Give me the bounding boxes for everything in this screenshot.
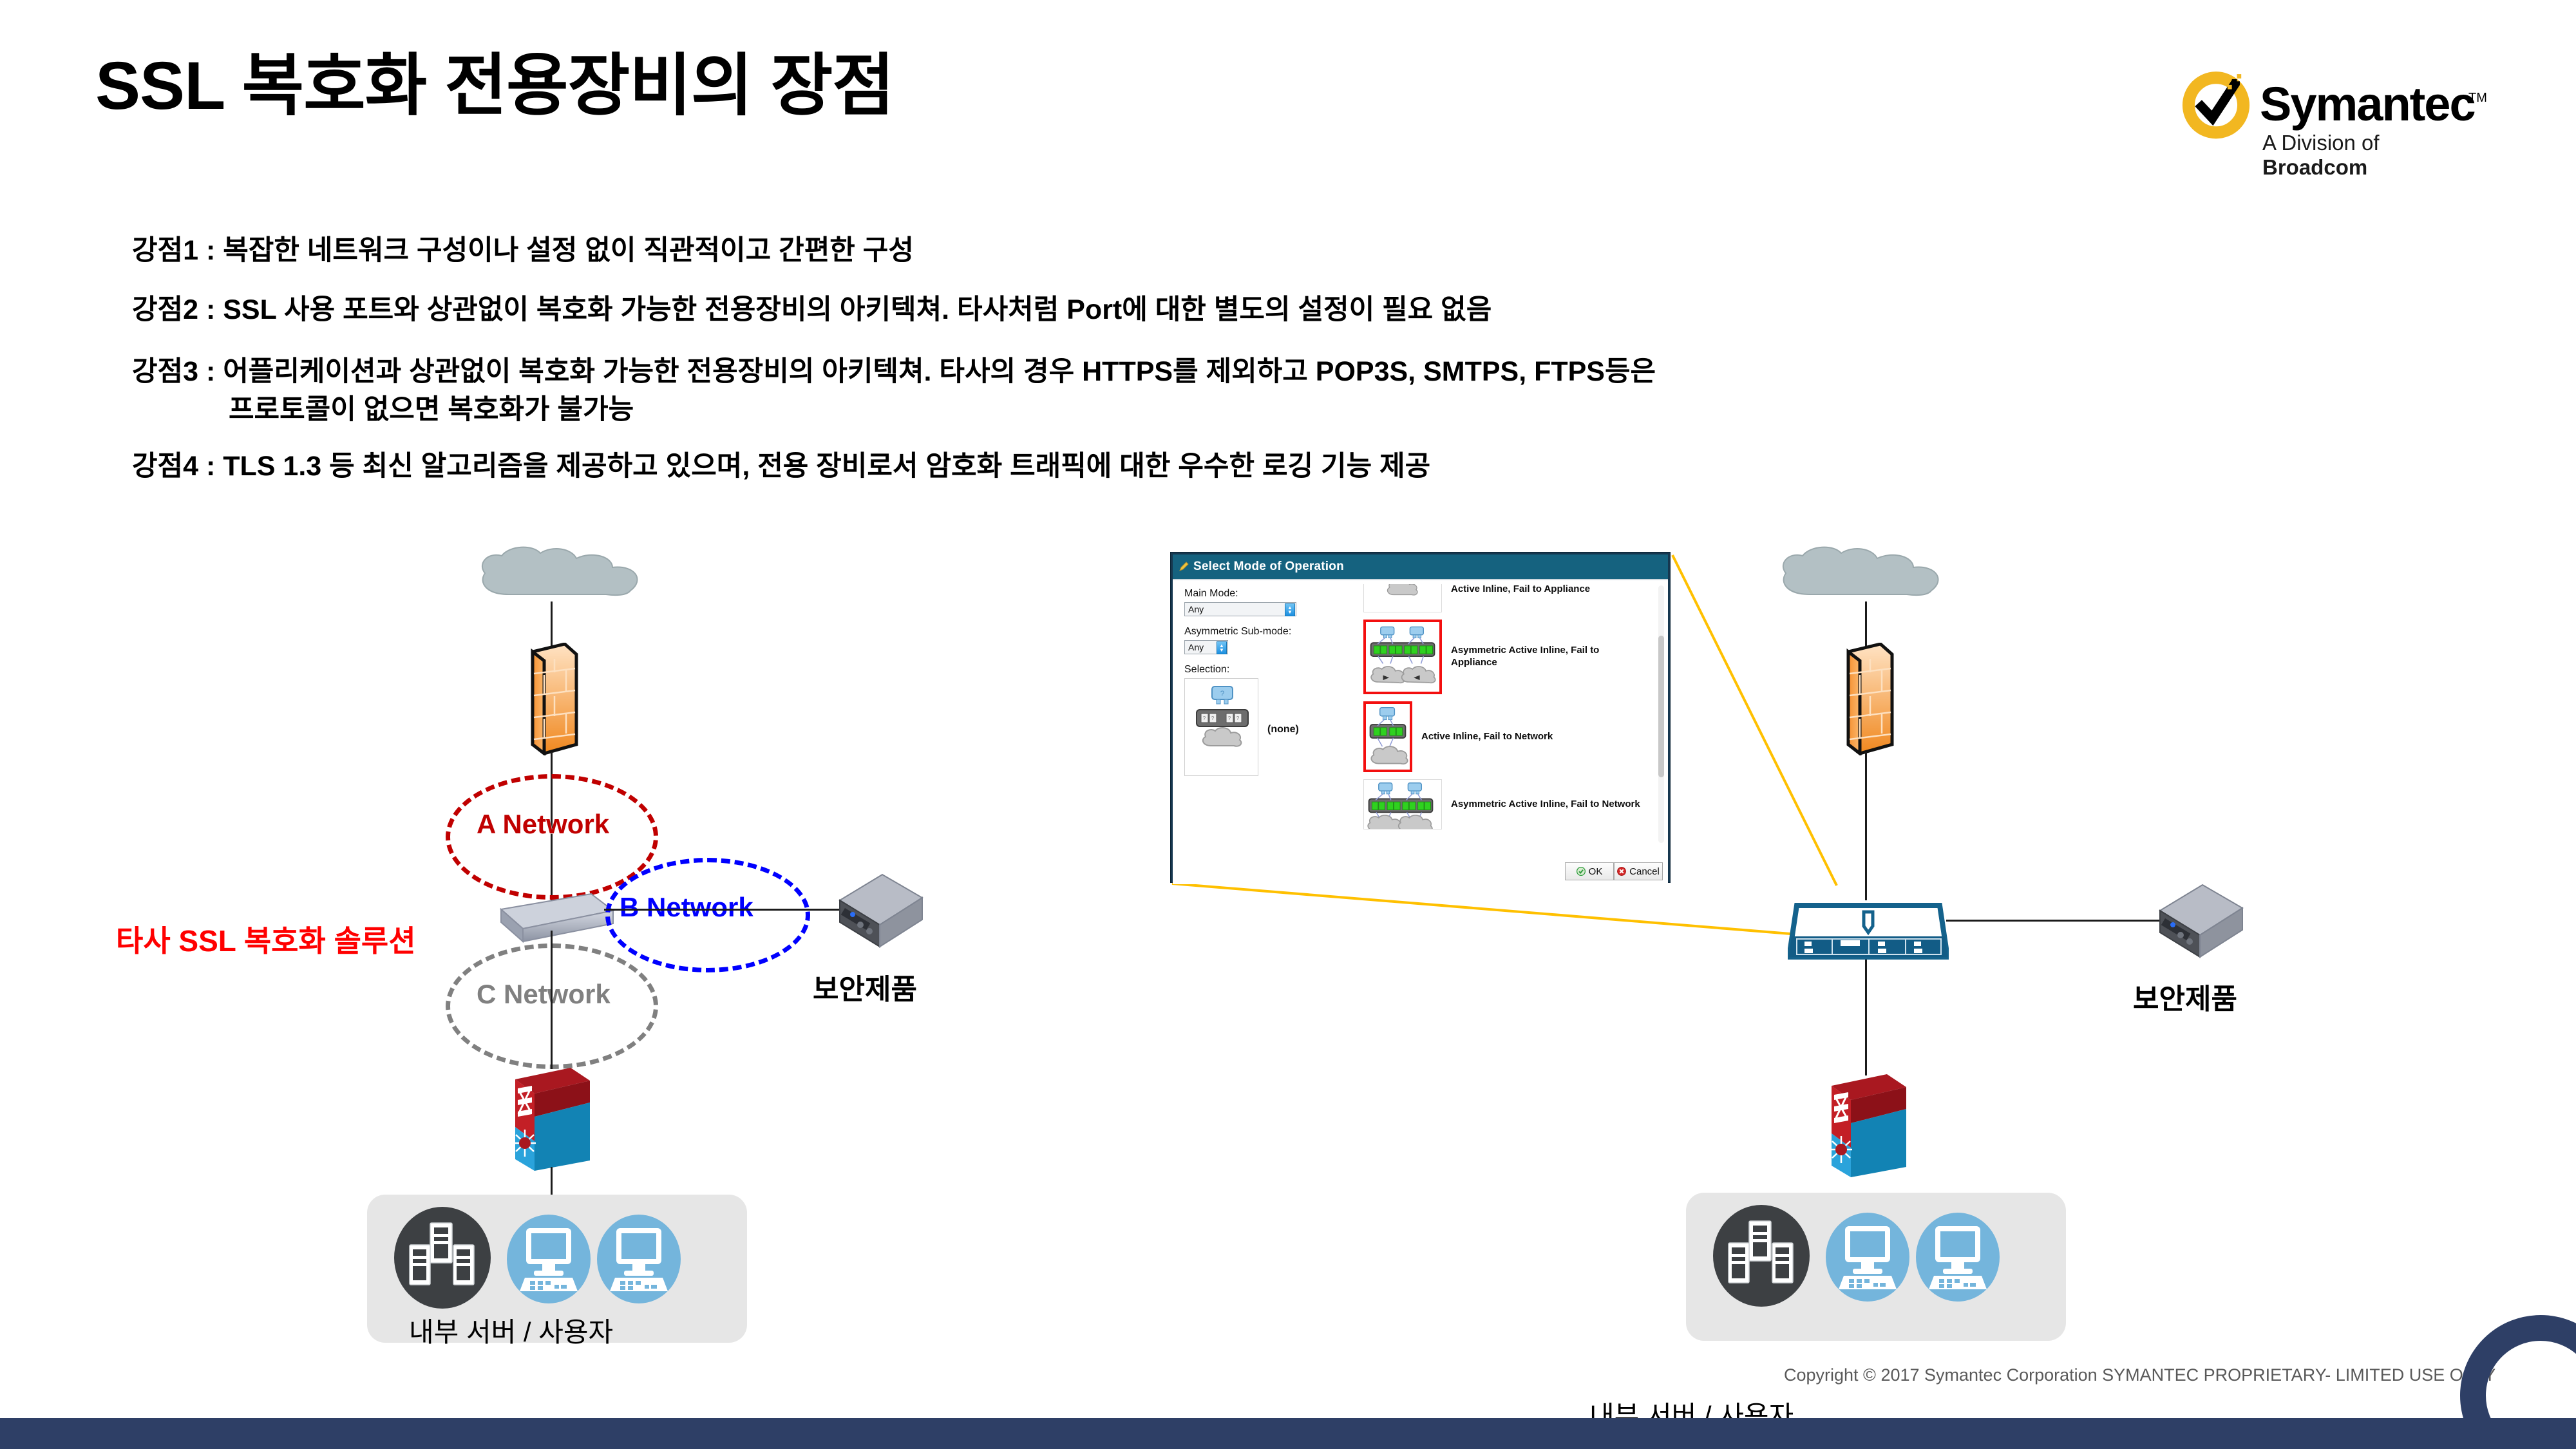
link-decryptor-switch-left [551, 931, 553, 1069]
main-mode-select[interactable]: Any ▲▼ [1184, 602, 1296, 616]
bullet-3: 강점3 : 어플리케이션과 상관없이 복호화 가능한 전용장비의 아키텍쳐. 타… [132, 353, 1656, 430]
dialog-title-text: Select Mode of Operation [1193, 560, 1344, 574]
asym-submode-value: Any [1188, 642, 1204, 652]
security-appliance-icon [2156, 881, 2246, 961]
asym-submode-label: Asymmetric Sub-mode: [1184, 626, 1345, 638]
bullet-4-text: 강점4 : TLS 1.3 등 최신 알고리즘을 제공하고 있으며, 전용 장비… [132, 451, 1430, 482]
mode-options-list[interactable]: Active Inline, Fail to Appliance [1363, 584, 1647, 849]
ok-button-label: OK [1589, 866, 1603, 877]
logo-wordmark: Symantec [2260, 77, 2475, 131]
mode-option-row[interactable]: Active Inline, Fail to Network [1363, 701, 1647, 772]
chevron-updown-icon[interactable]: ▲▼ [1217, 641, 1227, 654]
dialog-scrollbar[interactable] [1658, 585, 1664, 843]
selection-preview: ? ?? ?? (none) [1184, 678, 1258, 776]
internal-users-label-left: 내부 서버 / 사용자 [409, 1311, 613, 1350]
dialog-footer: OK Cancel [1565, 862, 1663, 880]
network-label-c: C Network [477, 979, 611, 1010]
link-ssl-security-right [1946, 920, 2162, 922]
close-circle-icon [1617, 867, 1626, 876]
ok-button[interactable]: OK [1565, 862, 1614, 880]
desktop-computer-icon [1915, 1212, 2002, 1302]
mode-thumbnail [1363, 584, 1442, 612]
link-switch-users-left [551, 1167, 553, 1196]
symantec-check-icon [2180, 68, 2252, 140]
mode-option-label: Asymmetric Active Inline, Fail to Networ… [1451, 799, 1640, 811]
bullet-3-continuation: 프로토콜이 없으면 복호화가 불가능 [132, 391, 1656, 429]
mode-option-label: Asymmetric Active Inline, Fail to Applia… [1451, 645, 1647, 669]
security-product-label-left: 보안제품 [813, 966, 917, 1007]
check-circle-icon [1577, 867, 1586, 876]
cloud-icon [1774, 544, 1955, 602]
mode-option-label: Active Inline, Fail to Appliance [1451, 584, 1590, 595]
bullet-2-text: 강점2 : SSL 사용 포트와 상관없이 복호화 가능한 전용장비의 아키텍쳐… [132, 294, 1492, 325]
inline-fail-network-icon [1366, 704, 1410, 770]
symantec-logo: Symantec TM A Division of Broadcom [2180, 68, 2483, 161]
desktop-computer-icon [506, 1214, 592, 1304]
inline-topology-icon [1364, 584, 1441, 612]
security-product-label-right: 보안제품 [2133, 976, 2237, 1017]
asym-submode-select[interactable]: Any ▲▼ [1184, 640, 1228, 654]
internal-users-group-right [1686, 1193, 2066, 1341]
selection-value: (none) [1267, 724, 1299, 735]
page-title: SSL 복호화 전용장비의 장점 [95, 31, 894, 129]
copyright-notice: Copyright © 2017 Symantec Corporation SY… [1784, 1365, 2495, 1385]
selection-label: Selection: [1184, 664, 1345, 676]
scrollbar-thumb[interactable] [1658, 636, 1664, 777]
link-firewall-ssl-right [1865, 752, 1867, 900]
bullet-2: 강점2 : SSL 사용 포트와 상관없이 복호화 가능한 전용장비의 아키텍쳐… [132, 291, 1492, 329]
network-label-a: A Network [477, 809, 609, 840]
dialog-body: Main Mode: Any ▲▼ Asymmetric Sub-mode: A… [1173, 579, 1668, 884]
pencil-icon [1179, 562, 1189, 572]
network-label-b: B Network [620, 892, 753, 923]
mode-thumbnail [1363, 779, 1442, 829]
slide-canvas: SSL 복호화 전용장비의 장점 Symantec TM A Division … [0, 0, 2576, 1449]
ssl-visibility-appliance-icon [1788, 890, 1949, 967]
bottom-bar [0, 1418, 2576, 1449]
mode-thumbnail [1363, 701, 1412, 772]
ssl-decryptor-appliance-icon [495, 889, 617, 948]
cancel-button[interactable]: Cancel [1614, 862, 1663, 880]
selection-unknown-icon: ? ?? ?? [1185, 679, 1259, 777]
link-decryptor-security-left [604, 909, 842, 911]
logo-tagline: A Division of Broadcom [2262, 131, 2483, 180]
logo-tm: TM [2468, 91, 2487, 106]
svg-text:?: ? [1220, 689, 1225, 698]
multilayer-switch-icon [504, 1063, 600, 1171]
desktop-computer-icon [1824, 1212, 1911, 1302]
cancel-button-label: Cancel [1629, 866, 1660, 877]
bullet-3-text: 강점3 : 어플리케이션과 상관없이 복호화 가능한 전용장비의 아키텍쳐. 타… [132, 356, 1656, 387]
logo-tagline-brand: Broadcom [2262, 155, 2367, 179]
chevron-updown-icon[interactable]: ▲▼ [1285, 603, 1295, 616]
dialog-titlebar: Select Mode of Operation [1173, 554, 1668, 579]
select-mode-dialog[interactable]: Select Mode of Operation Main Mode: Any … [1171, 553, 1670, 882]
dialog-left-pane: Main Mode: Any ▲▼ Asymmetric Sub-mode: A… [1184, 588, 1345, 776]
bullet-4: 강점4 : TLS 1.3 등 최신 알고리즘을 제공하고 있으며, 전용 장비… [132, 448, 1430, 486]
server-stack-icon [1712, 1204, 1812, 1307]
logo-tagline-prefix: A Division of [2262, 131, 2380, 155]
main-mode-label: Main Mode: [1184, 588, 1345, 600]
mode-option-label: Active Inline, Fail to Network [1421, 731, 1553, 743]
mode-option-row[interactable]: Active Inline, Fail to Appliance [1363, 584, 1647, 612]
server-stack-icon [393, 1206, 493, 1309]
svg-text:?: ? [1203, 715, 1206, 721]
bullet-1-text: 강점1 : 복잡한 네트워크 구성이나 설정 없이 직관적이고 간편한 구성 [132, 235, 914, 266]
security-appliance-icon [836, 871, 926, 951]
mode-option-row[interactable]: Asymmetric Active Inline, Fail to Networ… [1363, 779, 1647, 829]
asym-inline-topology-icon [1366, 622, 1439, 692]
bullet-1: 강점1 : 복잡한 네트워크 구성이나 설정 없이 직관적이고 간편한 구성 [132, 232, 914, 270]
firewall-brick-icon [518, 643, 586, 755]
link-ssl-switch-right [1865, 960, 1867, 1075]
asym-inline-fail-network-icon [1364, 780, 1437, 829]
svg-text:?: ? [1236, 715, 1240, 721]
svg-text:?: ? [1211, 715, 1215, 721]
main-mode-value: Any [1188, 604, 1204, 614]
cloud-icon [473, 544, 654, 602]
mode-option-row[interactable]: Asymmetric Active Inline, Fail to Applia… [1363, 620, 1647, 694]
firewall-brick-icon [1834, 643, 1902, 755]
mode-thumbnail [1363, 620, 1442, 694]
svg-text:?: ? [1228, 715, 1231, 721]
multilayer-switch-icon [1820, 1069, 1917, 1177]
internal-users-group-left: 내부 서버 / 사용자 [367, 1195, 747, 1343]
third-party-solution-label: 타사 SSL 복호화 솔루션 [116, 918, 416, 960]
desktop-computer-icon [596, 1214, 683, 1304]
